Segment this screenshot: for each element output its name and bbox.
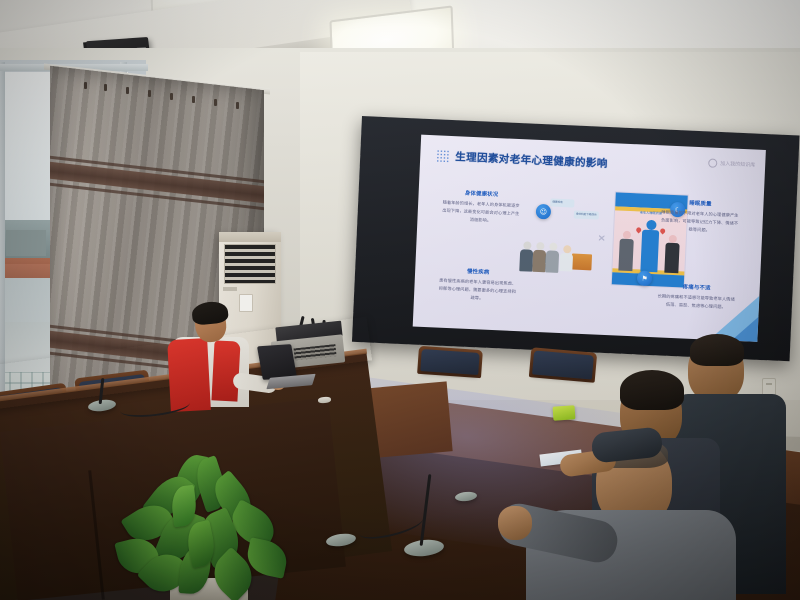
section-title: 慢性疾病 — [439, 266, 517, 277]
knowledge-base-watermark[interactable]: 加入我的知识库 — [708, 158, 755, 169]
window-mullion-left — [0, 62, 5, 407]
illustration-table — [571, 253, 592, 270]
audience-1-hand — [498, 506, 532, 540]
section-body: 患有慢性疾病的老年人更容易出现焦虑、抑郁等心理问题，需要更多的心理支持和疏导。 — [438, 277, 517, 304]
body-health-icon: ☺ — [536, 204, 552, 220]
circle-plus-icon — [708, 158, 717, 167]
section-title: 睡眠质量 — [661, 197, 739, 208]
audience-member-3 — [688, 338, 744, 402]
section-title: 身体健康状况 — [443, 188, 521, 199]
slide-section-physical-health: 身体健康状况 随着年龄的增长，老年人的身体机能逐步出现下降，这些变化可能会对心理… — [441, 188, 520, 226]
slide-header: 生理因素对老年心理健康的影响 — [436, 148, 608, 171]
section-body: 睡眠质量的下降对老年人的心理健康产生负面影响，可能导致记忆力下降、情绪不稳等问题… — [660, 208, 739, 235]
green-eraser-box[interactable] — [553, 405, 576, 421]
audience-3-hair — [690, 334, 744, 366]
illustration-bubble-1: 健康检查 — [550, 198, 574, 207]
presenter-laptop-screen[interactable] — [257, 344, 297, 380]
chair-seat-3[interactable] — [420, 349, 479, 375]
section-body: 随着年龄的增长，老年人的身体机能逐步出现下降，这些变化可能会对心理上产生消极影响… — [441, 199, 520, 226]
chair-seat-4[interactable] — [532, 350, 594, 379]
elderly-group-illustration: 健康检查 身体机能下降提示 ☺ ↻ — [515, 195, 596, 274]
watermark-label: 加入我的知识库 — [720, 160, 755, 169]
meeting-room-photo: 生理因素对老年心理健康的影响 加入我的知识库 健康检查 身体机能下降提示 ☺ ↻… — [0, 0, 800, 600]
section-title: 疼痛与不适 — [658, 281, 736, 292]
slide-title: 生理因素对老年心理健康的影响 — [455, 149, 608, 171]
illustration-divider: ›‹ — [597, 231, 602, 246]
slide-section-sleep-quality: 睡眠质量 睡眠质量的下降对老年人的心理健康产生负面影响，可能导致记忆力下降、情绪… — [660, 197, 739, 235]
slide-section-chronic-illness: 慢性疾病 患有慢性疾病的老年人更容易出现焦虑、抑郁等心理问题，需要更多的心理支持… — [438, 266, 517, 304]
projection-screen[interactable]: 生理因素对老年心理健康的影响 加入我的知识库 健康检查 身体机能下降提示 ☺ ↻… — [351, 116, 799, 373]
potted-green-plant — [118, 452, 308, 600]
dot-grid-icon — [436, 149, 450, 163]
presenter-red-vest-right — [211, 340, 240, 401]
ac-brand-logo — [223, 287, 237, 291]
audience-2-hair — [620, 370, 684, 410]
presentation-slide[interactable]: 生理因素对老年心理健康的影响 加入我的知识库 健康检查 身体机能下降提示 ☺ ↻… — [413, 135, 766, 342]
ac-top-cover — [219, 232, 281, 242]
illustration-bubble-2: 身体机能下降提示 — [574, 211, 599, 220]
ac-vent-louvers — [224, 244, 276, 284]
